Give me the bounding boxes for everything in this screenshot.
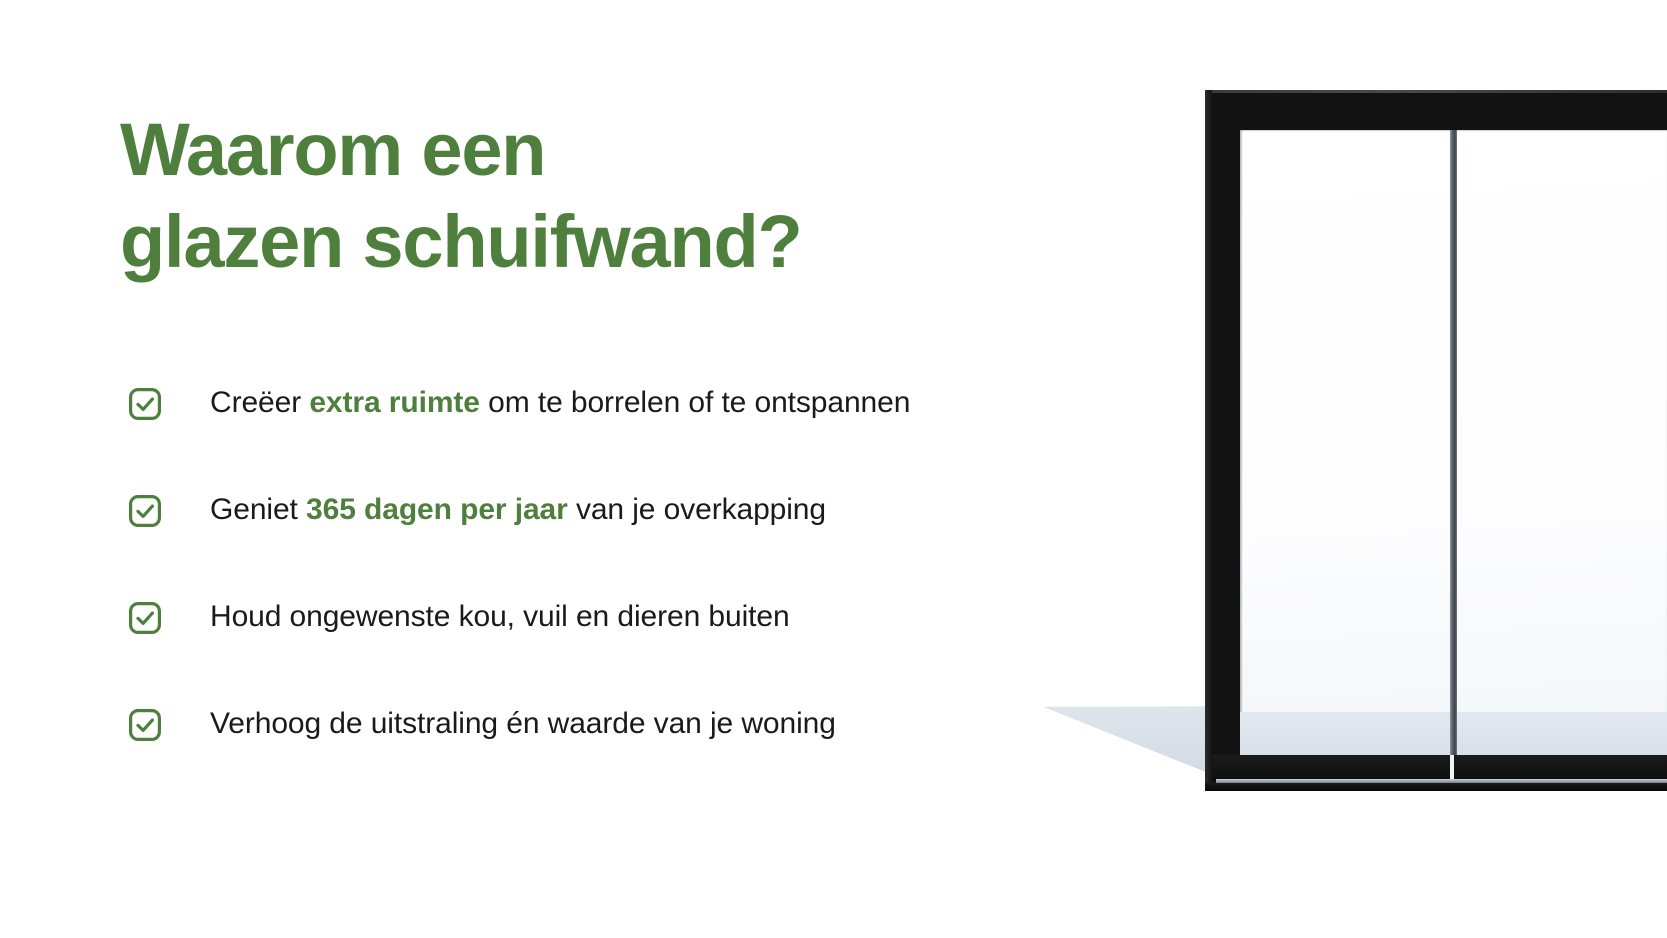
benefits-list: Creëer extra ruimte om te borrelen of te… [120,383,1080,811]
checkbox-checked-icon [128,494,162,528]
plain-text: van je overkapping [568,493,826,526]
door-bottom-rail [1212,755,1667,781]
list-item-label: Verhoog de uitstraling én waarde van je … [210,704,1080,744]
page-title: Waarom een glazen schuifwand? [120,104,801,288]
door-left-stile [1205,90,1212,790]
plain-text: Creëer [210,386,309,419]
list-item: Creëer extra ruimte om te borrelen of te… [120,383,1080,490]
checkbox-checked-icon [128,387,162,421]
content-column: Waarom een glazen schuifwand? Creëer ext… [120,0,1080,938]
checkbox-checked-icon [128,708,162,742]
door-head-rail-sheen [1205,90,1667,93]
plain-text: Verhoog de uitstraling én waarde van je … [210,707,836,740]
door-base-shadow [1205,783,1667,791]
slide-root: Waarom een glazen schuifwand? Creëer ext… [0,0,1667,938]
list-item-label: Creëer extra ruimte om te borrelen of te… [210,383,1080,423]
plain-text: om te borrelen of te ontspannen [480,386,910,419]
glass-sliding-door-photo [1020,0,1667,938]
list-item: Verhoog de uitstraling én waarde van je … [120,704,1080,811]
list-item: Geniet 365 dagen per jaar van je overkap… [120,490,1080,597]
list-item-label: Houd ongewenste kou, vuil en dieren buit… [210,597,1080,637]
checkbox-checked-icon [128,601,162,635]
door-center-mullion [1450,130,1457,755]
list-item-label: Geniet 365 dagen per jaar van je overkap… [210,490,1080,530]
highlighted-text: 365 dagen per jaar [306,493,568,526]
plain-text: Geniet [210,493,306,526]
plain-text: Houd ongewenste kou, vuil en dieren buit… [210,600,790,633]
door-rail-gap [1450,755,1454,781]
highlighted-text: extra ruimte [309,386,480,419]
list-item: Houd ongewenste kou, vuil en dieren buit… [120,597,1080,704]
